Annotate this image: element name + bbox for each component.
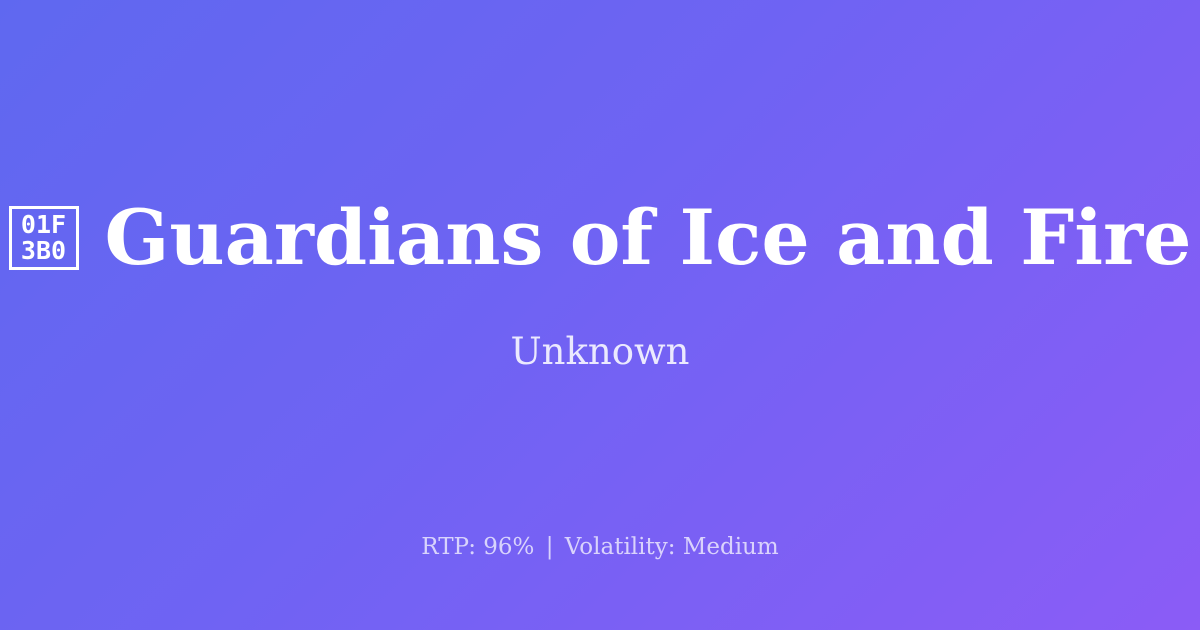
game-stats-line: RTP: 96% | Volatility: Medium xyxy=(0,534,1200,562)
meta-separator: | xyxy=(542,534,558,560)
tofu-hex-top: 01F xyxy=(21,212,66,238)
volatility-label: Volatility: xyxy=(565,534,676,560)
page-subtitle: Unknown xyxy=(510,330,689,374)
volatility-value: Medium xyxy=(683,534,779,560)
tofu-hex-bottom: 3B0 xyxy=(21,238,66,264)
slot-machine-icon: 01F 3B0 xyxy=(9,206,79,270)
title-row: 01F 3B0 Guardians of Ice and Fire xyxy=(0,198,1200,278)
game-promo-card: 01F 3B0 Guardians of Ice and Fire Unknow… xyxy=(0,0,1200,630)
page-title: Guardians of Ice and Fire xyxy=(105,198,1192,278)
rtp-label: RTP: xyxy=(421,534,476,560)
rtp-value: 96% xyxy=(483,534,534,560)
